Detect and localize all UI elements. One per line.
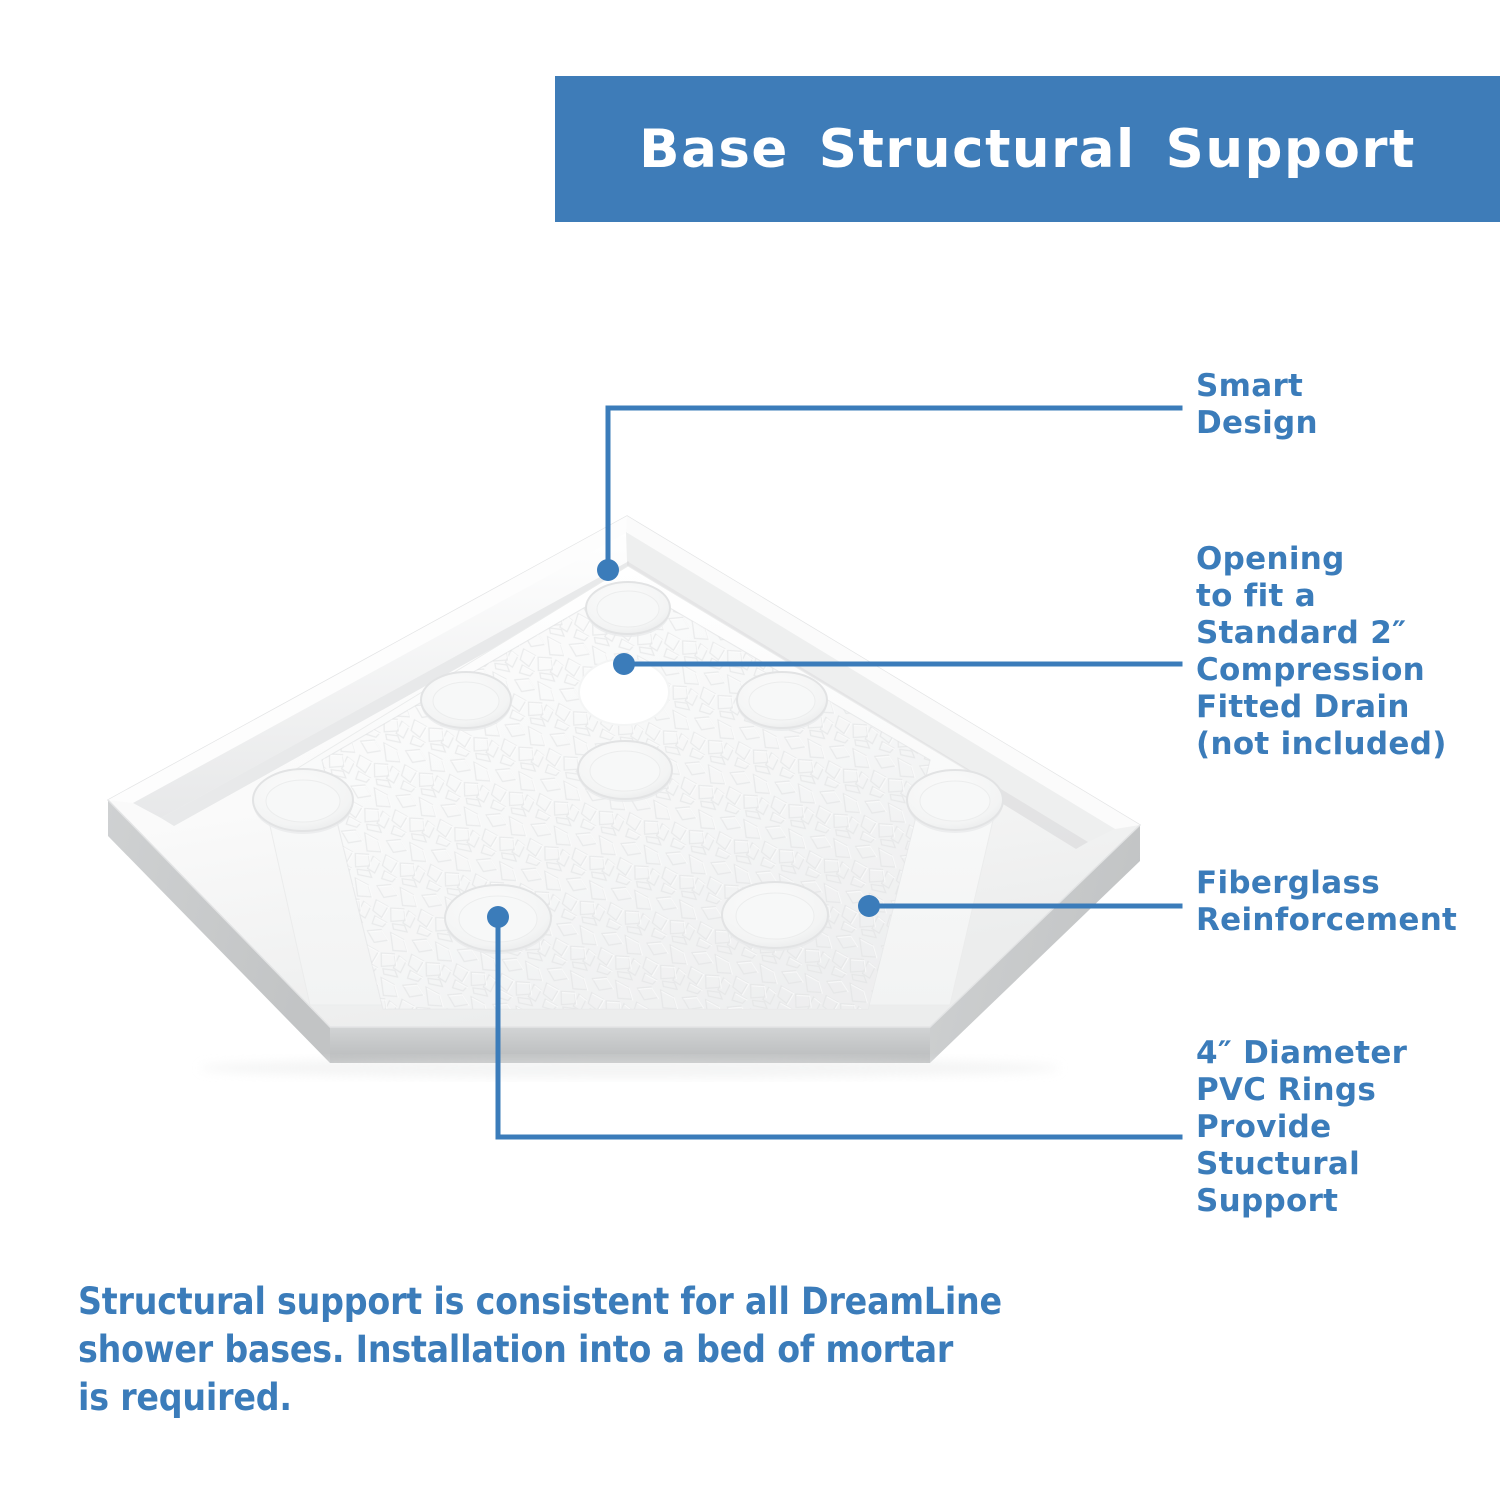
callout-line: Design: [1196, 405, 1500, 442]
leader-dot-pvc-rings: [487, 906, 509, 928]
callout-line: Support: [1196, 1183, 1500, 1220]
callout-line: Compression: [1196, 652, 1500, 689]
callout-label-pvc-rings: 4″ Diameter PVC Rings Provide Stuctural …: [1196, 1035, 1500, 1220]
footnote-text: Structural support is consistent for all…: [78, 1278, 978, 1422]
page-title: Base Structural Support: [639, 119, 1416, 180]
leader-dot-drain-opening: [613, 653, 635, 675]
footnote-line: is required.: [78, 1374, 978, 1422]
callout-line: Reinforcement: [1196, 902, 1500, 939]
callout-line: Smart: [1196, 368, 1500, 405]
callout-label-smart-design: Smart Design: [1196, 368, 1500, 442]
callout-line: (not included): [1196, 726, 1500, 763]
leader-line-smart-design: [608, 408, 1180, 570]
callout-line: Fiberglass: [1196, 865, 1500, 902]
infographic-canvas: Base Structural Support Smart Design Ope…: [0, 0, 1500, 1500]
header-banner: Base Structural Support: [555, 76, 1500, 222]
footnote-line: shower bases. Installation into a bed of…: [78, 1326, 978, 1374]
leader-dot-fiberglass: [858, 895, 880, 917]
leader-dot-smart-design: [597, 559, 619, 581]
callout-line: 4″ Diameter: [1196, 1035, 1500, 1072]
callout-line: Opening: [1196, 541, 1500, 578]
callout-line: Fitted Drain: [1196, 689, 1500, 726]
callout-label-drain-opening: Opening to fit a Standard 2″ Compression…: [1196, 541, 1500, 763]
callout-line: Stuctural: [1196, 1146, 1500, 1183]
footnote-line: Structural support is consistent for all…: [78, 1278, 978, 1326]
callout-line: Provide: [1196, 1109, 1500, 1146]
callout-line: PVC Rings: [1196, 1072, 1500, 1109]
leader-line-pvc-rings: [498, 917, 1180, 1137]
callout-line: Standard 2″: [1196, 615, 1500, 652]
callout-line: to fit a: [1196, 578, 1500, 615]
callout-label-fiberglass-reinforcement: Fiberglass Reinforcement: [1196, 865, 1500, 939]
